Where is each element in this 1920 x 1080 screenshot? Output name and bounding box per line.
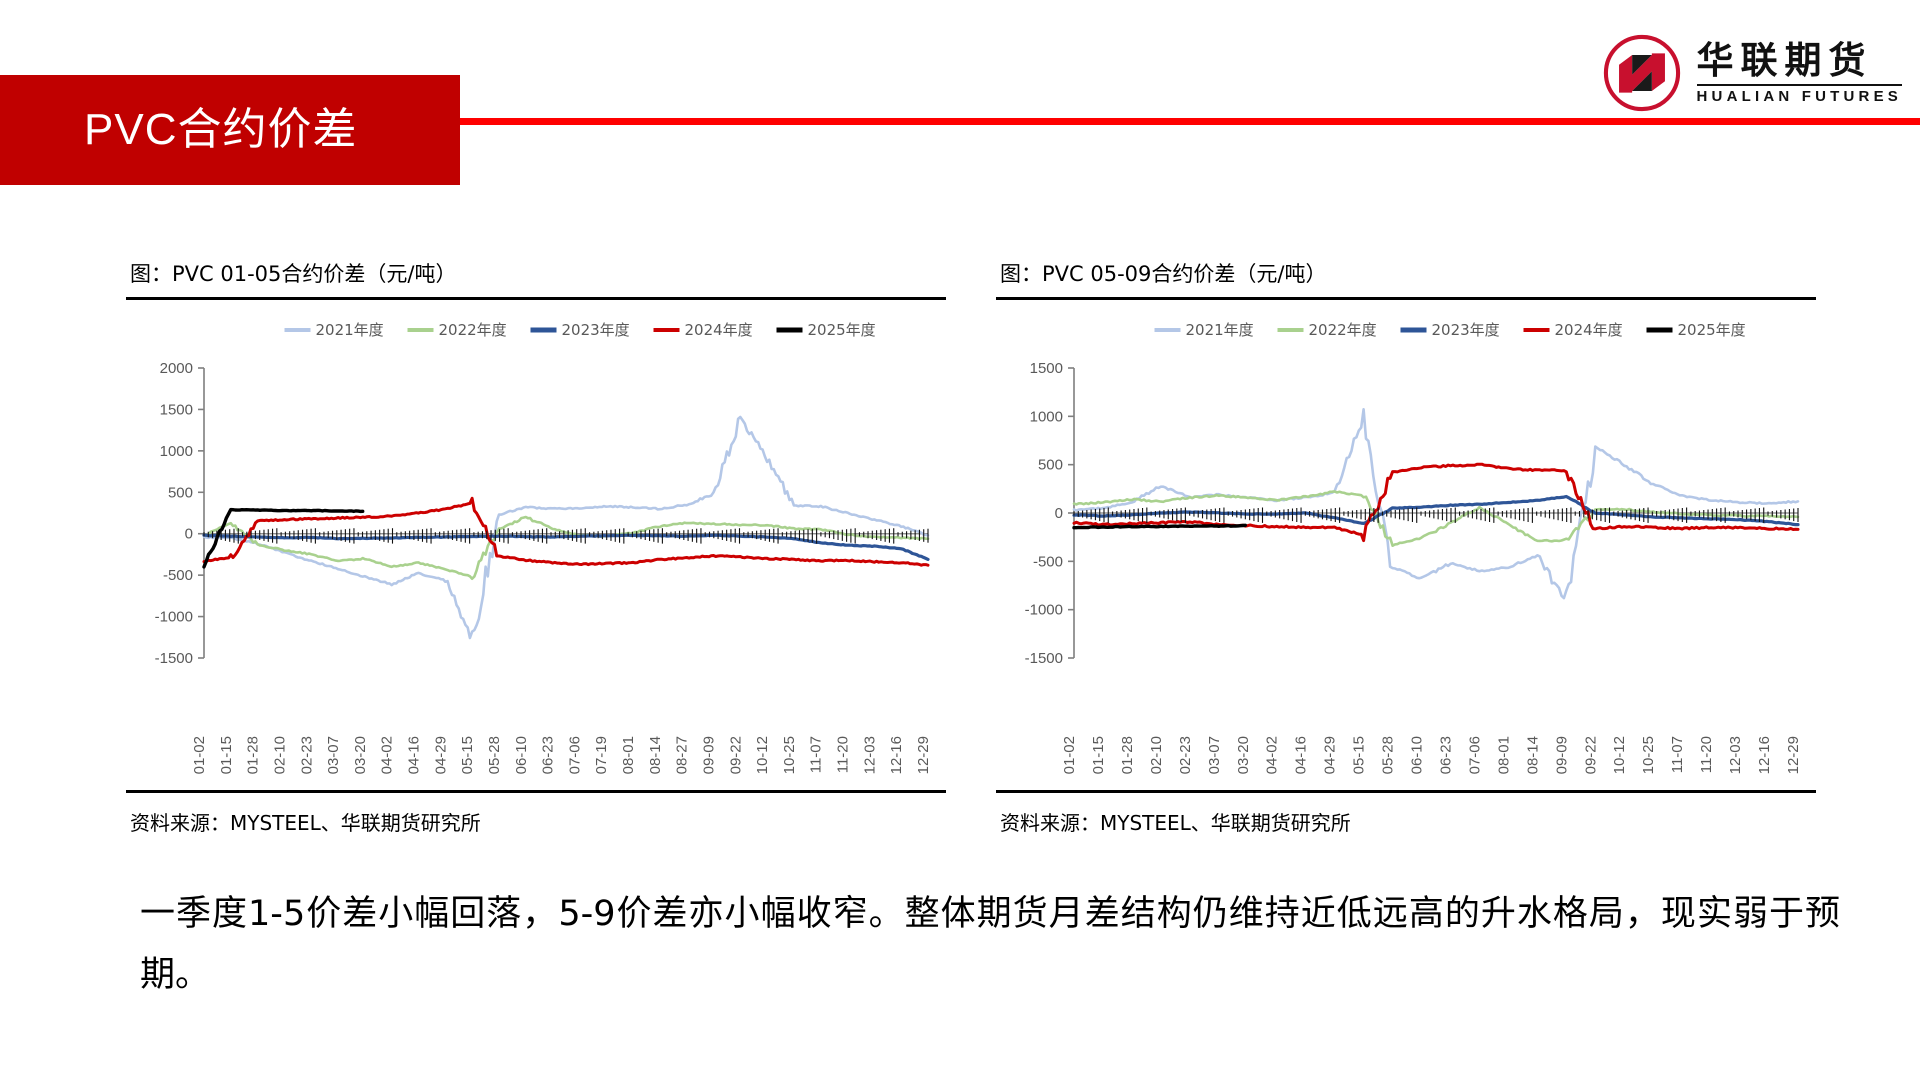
x-tick-label: 06-10	[513, 736, 530, 774]
legend-label: 2021年度	[1186, 321, 1254, 339]
x-tick-label: 01-02	[191, 736, 208, 774]
y-tick-label: 500	[168, 484, 193, 501]
x-tick-label: 12-16	[1756, 736, 1773, 774]
legend-label: 2024年度	[1555, 321, 1623, 339]
legend-label: 2023年度	[562, 321, 630, 339]
x-tick-label: 12-03	[861, 736, 878, 774]
x-axis-ticks: 01-0201-1501-2802-1002-2303-0703-2004-02…	[191, 736, 932, 774]
x-tick-label: 09-22	[727, 736, 744, 774]
x-tick-label: 01-02	[1061, 736, 1078, 774]
series-line-2021年度	[1074, 409, 1798, 598]
x-tick-label: 02-10	[1148, 736, 1165, 774]
x-tick-label: 04-16	[1293, 736, 1310, 774]
x-tick-label: 11-20	[835, 736, 852, 773]
x-tick-label: 06-23	[1437, 736, 1454, 774]
y-tick-label: -500	[1033, 553, 1063, 570]
y-tick-label: 500	[1038, 457, 1063, 474]
x-tick-label: 08-01	[620, 736, 637, 774]
x-tick-label: 09-22	[1582, 736, 1599, 774]
chart-title-05-09: 图：PVC 05-09合约价差（元/吨）	[996, 258, 1816, 297]
y-tick-label: 2000	[160, 360, 193, 377]
x-tick-label: 07-06	[1466, 736, 1483, 774]
logo-chinese-name: 华联期货	[1697, 42, 1903, 81]
x-tick-label: 10-25	[1640, 736, 1657, 774]
x-tick-label: 01-28	[1119, 736, 1136, 774]
x-tick-label: 12-29	[1785, 736, 1802, 774]
x-tick-label: 02-23	[1177, 736, 1194, 774]
x-tick-label: 10-12	[754, 736, 771, 774]
page-title: PVC合约价差	[84, 108, 357, 152]
x-tick-label: 04-29	[1322, 736, 1339, 774]
legend-label: 2022年度	[439, 321, 507, 339]
x-tick-label: 11-07	[1669, 736, 1686, 773]
chart-panel-05-09: 图：PVC 05-09合约价差（元/吨） 2021年度2022年度2023年度2…	[996, 258, 1816, 828]
x-tick-label: 07-19	[593, 736, 610, 774]
x-tick-label: 08-14	[1524, 736, 1541, 774]
x-tick-label: 04-16	[406, 736, 423, 774]
x-tick-label: 10-25	[781, 736, 798, 774]
logo-rule	[1697, 84, 1903, 86]
x-tick-label: 03-20	[1235, 736, 1252, 774]
legend-label: 2024年度	[685, 321, 753, 339]
legend-label: 2025年度	[1678, 321, 1746, 339]
x-tick-label: 06-10	[1409, 736, 1426, 774]
x-tick-label: 08-27	[674, 736, 691, 774]
x-tick-label: 02-23	[298, 736, 315, 774]
y-tick-label: -1500	[155, 650, 193, 667]
x-tick-label: 05-28	[1380, 736, 1397, 774]
chart-series-group	[204, 417, 928, 638]
y-tick-label: 1000	[1030, 408, 1063, 425]
y-tick-label: 1000	[160, 443, 193, 460]
legend-label: 2021年度	[316, 321, 384, 339]
y-tick-label: 1500	[160, 401, 193, 418]
x-tick-label: 01-28	[245, 736, 262, 774]
series-line-2022年度	[204, 517, 928, 579]
title-banner: PVC合约价差	[0, 75, 460, 185]
company-logo: 华联期货 HUALIAN FUTURES	[1601, 30, 1903, 116]
x-tick-label: 03-07	[325, 736, 342, 774]
x-tick-label: 03-07	[1206, 736, 1223, 774]
x-tick-label: 02-10	[271, 736, 288, 774]
x-tick-label: 04-02	[1264, 736, 1281, 774]
line-chart-01-05[interactable]: 2021年度2022年度2023年度2024年度2025年度2000150010…	[126, 300, 946, 790]
page-header: PVC合约价差 华联期货 HUALIAN FUTURES	[0, 0, 1920, 200]
title-divider-rule	[460, 118, 1920, 125]
chart-source-05-09: 资料来源：MYSTEEL、华联期货研究所	[996, 793, 1816, 836]
chart-canvas-05-09: 2021年度2022年度2023年度2024年度2025年度1500100050…	[996, 300, 1816, 790]
x-tick-label: 01-15	[1090, 736, 1107, 774]
chart-legend: 2021年度2022年度2023年度2024年度2025年度	[1155, 321, 1746, 339]
x-tick-label: 12-16	[888, 736, 905, 774]
y-tick-label: -1000	[155, 609, 193, 626]
x-tick-label: 05-15	[459, 736, 476, 774]
series-line-2025年度	[1074, 525, 1245, 527]
x-tick-label: 03-20	[352, 736, 369, 774]
legend-label: 2022年度	[1309, 321, 1377, 339]
y-tick-label: 1500	[1030, 360, 1063, 377]
y-tick-label: -1000	[1025, 602, 1063, 619]
logo-english-name: HUALIAN FUTURES	[1697, 89, 1903, 104]
x-tick-label: 08-14	[647, 736, 664, 774]
y-tick-label: 0	[185, 526, 193, 543]
x-tick-label: 09-09	[700, 736, 717, 774]
chart-series-group	[1074, 409, 1798, 598]
x-tick-label: 11-20	[1698, 736, 1715, 773]
y-tick-label: 0	[1055, 505, 1063, 522]
series-line-2024年度	[1074, 464, 1798, 540]
chart-panel-01-05: 图：PVC 01-05合约价差（元/吨） 2021年度2022年度2023年度2…	[126, 258, 946, 828]
x-tick-label: 10-12	[1611, 736, 1628, 774]
y-axis-ticks: 150010005000-500-1000-1500	[1025, 360, 1074, 667]
series-line-2021年度	[204, 417, 928, 638]
x-tick-label: 09-09	[1553, 736, 1570, 774]
summary-paragraph: 一季度1-5价差小幅回落，5-9价差亦小幅收窄。整体期货月差结构仍维持近低远高的…	[140, 884, 1840, 1007]
x-tick-label: 05-15	[1351, 736, 1368, 774]
x-tick-label: 05-28	[486, 736, 503, 774]
x-tick-label: 06-23	[540, 736, 557, 774]
legend-label: 2023年度	[1432, 321, 1500, 339]
x-tick-label: 08-01	[1495, 736, 1512, 774]
hualian-n-circle-logo-icon	[1601, 32, 1683, 114]
x-axis-ticks: 01-0201-1501-2802-1002-2303-0703-2004-02…	[1061, 736, 1802, 774]
x-tick-label: 04-29	[432, 736, 449, 774]
logo-wordmark: 华联期货 HUALIAN FUTURES	[1697, 32, 1903, 114]
x-tick-label: 12-03	[1727, 736, 1744, 774]
chart-source-01-05: 资料来源：MYSTEEL、华联期货研究所	[126, 793, 946, 836]
legend-label: 2025年度	[808, 321, 876, 339]
y-tick-label: -500	[163, 567, 193, 584]
x-tick-label: 12-29	[915, 736, 932, 774]
y-axis-ticks: 2000150010005000-500-1000-1500	[155, 360, 204, 667]
chart-canvas-01-05: 2021年度2022年度2023年度2024年度2025年度2000150010…	[126, 300, 946, 790]
chart-legend: 2021年度2022年度2023年度2024年度2025年度	[285, 321, 876, 339]
chart-title-01-05: 图：PVC 01-05合约价差（元/吨）	[126, 258, 946, 297]
y-tick-label: -1500	[1025, 650, 1063, 667]
x-tick-label: 07-06	[566, 736, 583, 774]
line-chart-05-09[interactable]: 2021年度2022年度2023年度2024年度2025年度1500100050…	[996, 300, 1816, 790]
x-tick-label: 01-15	[218, 736, 235, 774]
x-tick-label: 11-07	[808, 736, 825, 773]
x-tick-label: 04-02	[379, 736, 396, 774]
